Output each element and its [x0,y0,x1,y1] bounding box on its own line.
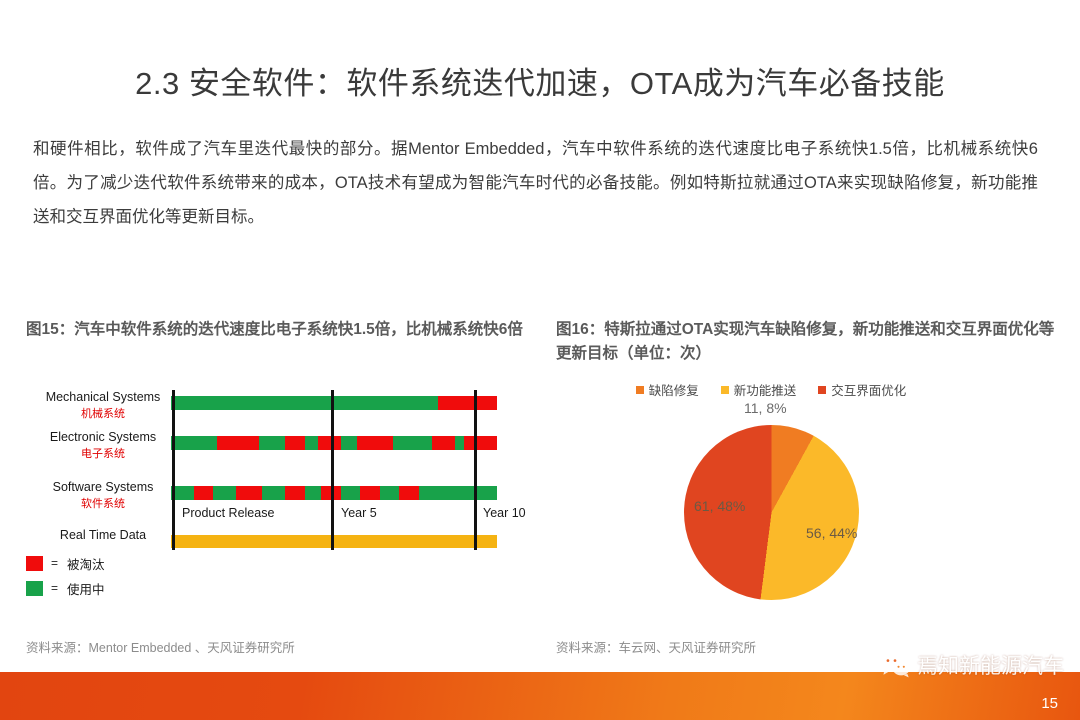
bar-segment-obsolete [438,396,497,410]
bar-mechanical-systems [171,396,497,410]
pie-label-ui-optimize: 61, 48% [694,498,745,514]
row-label-en: Electronic Systems [28,430,178,444]
pie-label-bugfix: 11, 8% [744,400,787,416]
legend-label-in-use: 使用中 [67,579,105,598]
bar-electronic-systems [171,436,497,450]
row-label-en: Real Time Data [28,528,178,542]
axis-label-year-5: Year 5 [341,506,377,520]
row-label-en: Software Systems [28,480,178,494]
page-number: 15 [1041,695,1058,712]
legend-mark-amber [721,386,729,394]
figure15-source: 资料来源：Mentor Embedded 、天风证券研究所 [26,637,295,656]
pie-label-new-feature: 56, 44% [806,525,857,541]
row-label-electronic: Electronic Systems 电子系统 [28,430,178,461]
bar-segment-obsolete [318,436,341,450]
bar-segment-obsolete [360,486,380,500]
watermark-text: 焉知新能源汽车 [917,650,1064,680]
figure15-row-labels: Mechanical Systems 机械系统 Electronic Syste… [26,390,178,555]
bar-segment-obsolete [217,436,259,450]
body-paragraph: 和硬件相比，软件成了汽车里迭代最快的部分。据Mentor Embedded，汽车… [33,132,1038,234]
figure15-legend: = 被淘汰 = 使用中 [26,552,105,602]
row-label-zh: 电子系统 [28,445,178,461]
legend-item-new-feature: 新功能推送 [721,380,797,399]
figure16-source: 资料来源：车云网、天风证券研究所 [556,637,756,656]
legend-item-in-use: = 使用中 [26,577,105,599]
legend-label-ui-optimize: 交互界面优化 [831,380,906,399]
figure15-plot-area: Product Release Year 5 Year 10 [171,390,526,555]
gridline-year-5 [331,390,334,550]
bar-segment-obsolete [236,486,262,500]
legend-swatch-red [26,556,43,571]
bar-segment-obsolete [464,436,497,450]
axis-label-product-release: Product Release [182,506,274,520]
legend-label-new-feature: 新功能推送 [734,380,797,399]
axis-label-year-10: Year 10 [483,506,526,520]
legend-mark-orange [636,386,644,394]
row-label-zh: 机械系统 [28,405,178,421]
bar-segment-obsolete [399,486,419,500]
bar-segment-obsolete [285,436,305,450]
row-label-en: Mechanical Systems [28,390,178,404]
page-title: 2.3 安全软件：软件系统迭代加速，OTA成为汽车必备技能 [0,58,1080,103]
figure16-legend: 缺陷修复 新功能推送 交互界面优化 [556,380,986,399]
row-label-mechanical: Mechanical Systems 机械系统 [28,390,178,421]
row-label-realtime: Real Time Data [28,528,178,542]
gridline-year-10 [474,390,477,550]
legend-item-obsolete: = 被淘汰 [26,552,105,574]
bar-real-time-data [171,535,497,548]
legend-equals: = [51,556,58,570]
figure16-chart: 缺陷修复 新功能推送 交互界面优化 11, 8% 61, 48% 56, 44% [556,380,1056,610]
figure15-caption: 图15：汽车中软件系统的迭代速度比电子系统快1.5倍，比机械系统快6倍 [26,318,526,342]
figure16-caption: 图16：特斯拉通过OTA实现汽车缺陷修复，新功能推送和交互界面优化等更新目标（单… [556,318,1056,366]
bar-segment-obsolete [194,486,214,500]
legend-label-obsolete: 被淘汰 [67,554,105,573]
legend-mark-red [818,386,826,394]
legend-equals: = [51,581,58,595]
bar-software-systems [171,486,497,500]
wechat-icon [880,652,910,678]
legend-label-bugfix: 缺陷修复 [649,380,699,399]
gridline-product-release [172,390,175,550]
row-label-zh: 软件系统 [28,495,178,511]
bar-segment-obsolete [432,436,455,450]
bar-segment-obsolete [357,436,393,450]
bar-segment-obsolete [285,486,305,500]
legend-item-ui-optimize: 交互界面优化 [818,380,906,399]
row-label-software: Software Systems 软件系统 [28,480,178,511]
legend-item-bugfix: 缺陷修复 [636,380,699,399]
watermark: 焉知新能源汽车 [880,650,1064,680]
legend-swatch-green [26,581,43,596]
